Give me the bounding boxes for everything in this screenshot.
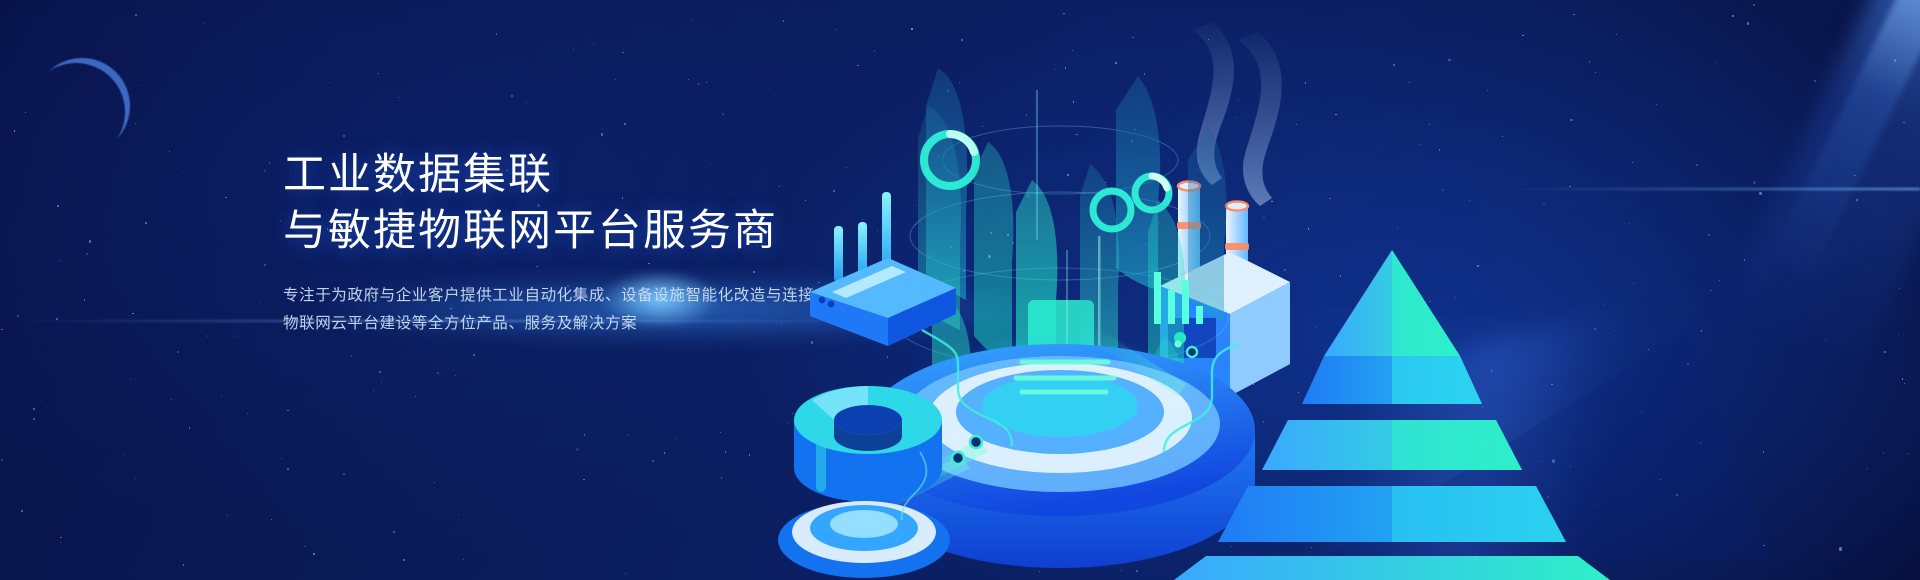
subtitle-block: 专注于为政府与企业客户提供工业自动化集成、设备设施智能化改造与连接、 物联网云平… bbox=[283, 282, 843, 339]
subtitle-line-2: 物联网云平台建设等全方位产品、服务及解决方案 bbox=[283, 310, 843, 339]
crescent-moon-icon bbox=[34, 58, 130, 154]
hero-banner: 工业数据集联 与敏捷物联网平台服务商 专注于为政府与企业客户提供工业自动化集成、… bbox=[0, 0, 1920, 580]
headline-line-2: 与敏捷物联网平台服务商 bbox=[283, 204, 843, 260]
hero-copy: 工业数据集联 与敏捷物联网平台服务商 专注于为政府与企业客户提供工业自动化集成、… bbox=[283, 148, 843, 339]
subtitle-line-1: 专注于为政府与企业客户提供工业自动化集成、设备设施智能化改造与连接、 bbox=[283, 282, 843, 311]
headline-line-1: 工业数据集联 bbox=[283, 148, 843, 204]
antenna-1 bbox=[834, 226, 843, 282]
isometric-illustration bbox=[760, 0, 1920, 580]
donut-cylinder bbox=[794, 386, 942, 502]
smoke-plume-right bbox=[1238, 32, 1282, 206]
